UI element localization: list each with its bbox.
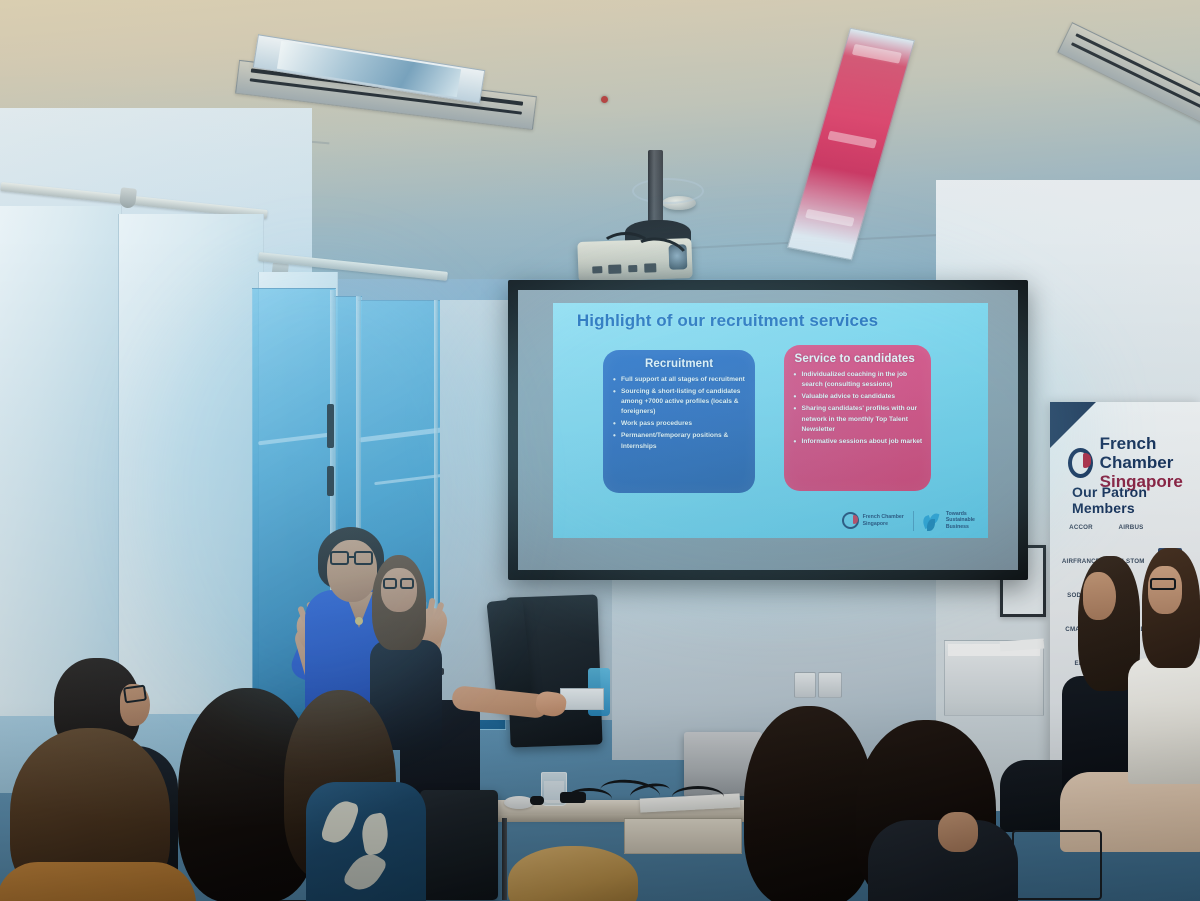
- logo-line: Sustainable: [946, 517, 975, 524]
- roller-blind: [0, 206, 122, 716]
- eyeglasses-bridge: [349, 556, 354, 558]
- desk-drawer[interactable]: [624, 818, 742, 854]
- chair-frame: [1012, 830, 1102, 900]
- cable: [672, 786, 724, 808]
- slide-bullet: Sourcing & short-listing of candidates a…: [612, 387, 746, 418]
- panelist-face: [1148, 566, 1182, 614]
- slide-bullet: Permanent/Temporary positions & Internsh…: [612, 431, 746, 452]
- logo-divider: [913, 511, 914, 531]
- french-chamber-icon: [842, 512, 859, 529]
- desk-leg: [502, 818, 507, 900]
- leaf-icon: [923, 512, 942, 529]
- french-chamber-logo: French Chamber Singapore: [842, 512, 904, 529]
- eyeglasses-icon: [354, 551, 373, 565]
- attendee-shoulders: [0, 862, 196, 901]
- photo-scene: Highlight of our recruitment services Re…: [0, 0, 1200, 901]
- attendee-hair: [744, 706, 874, 901]
- cable-adapter: [530, 796, 544, 805]
- presentation-slide: Highlight of our recruitment services Re…: [553, 303, 988, 538]
- sustainable-business-logo-text: Towards Sustainable Business: [946, 511, 975, 531]
- slide-box-heading: Recruitment: [612, 358, 746, 370]
- banner-subtitle: Our Patron Members: [1072, 484, 1200, 516]
- logo-line: Business: [946, 524, 975, 531]
- slide-box-candidates: Service to candidates Individualized coa…: [784, 345, 932, 491]
- eyeglasses-icon: [330, 551, 349, 565]
- french-chamber-logo-text: French Chamber Singapore: [863, 514, 904, 527]
- door-handle[interactable]: [327, 404, 334, 448]
- projection-screen: Highlight of our recruitment services Re…: [508, 280, 1028, 580]
- slide-bullet: Informative sessions about job market: [793, 437, 923, 447]
- roller-blind: [118, 214, 264, 714]
- banner-org-line1: French Chamber: [1100, 434, 1200, 472]
- attendee-face: [938, 812, 978, 852]
- light-switch[interactable]: [794, 672, 816, 698]
- logo-line: Towards: [946, 511, 975, 518]
- sustainable-business-logo: Towards Sustainable Business: [923, 511, 975, 531]
- panelist-torso: [1128, 658, 1200, 784]
- slide-bullet: Work pass procedures: [612, 419, 746, 429]
- slide-box-recruitment: Recruitment Full support at all stages o…: [603, 350, 755, 493]
- door-handle[interactable]: [327, 466, 334, 496]
- slide-bullet: Individualized coaching in the job searc…: [793, 370, 923, 391]
- screen-surface: Highlight of our recruitment services Re…: [518, 290, 1018, 570]
- attendee-hair: [508, 846, 638, 901]
- logo-line: French Chamber: [863, 514, 904, 521]
- eyeglasses-icon: [1150, 578, 1176, 590]
- eyeglasses-icon: [400, 578, 414, 589]
- speaker-face: [327, 540, 377, 602]
- french-chamber-icon: [1068, 448, 1093, 478]
- slide-bullet: Sharing candidates' profiles with our ne…: [793, 404, 923, 435]
- slide-bullet-list: Full support at all stages of recruitmen…: [612, 375, 746, 452]
- slide-bullet: Full support at all stages of recruitmen…: [612, 375, 746, 385]
- slide-box-heading: Service to candidates: [793, 353, 923, 365]
- sponsor-logo: AIRBUS: [1108, 514, 1154, 540]
- eyeglasses-icon: [123, 685, 147, 704]
- eyeglasses-icon: [383, 578, 397, 589]
- slide-bullet: Valuable advice to candidates: [793, 392, 923, 402]
- speaker-necklace: [355, 617, 363, 625]
- slide-bullet-list: Individualized coaching in the job searc…: [793, 370, 923, 447]
- sprinkler-indicator: [601, 96, 608, 103]
- sprinkler-ring: [632, 178, 704, 204]
- assistant-face: [381, 568, 417, 612]
- cable-adapter: [560, 792, 586, 803]
- logo-line: Singapore: [863, 521, 904, 528]
- banner-logo: French Chamber Singapore: [1068, 434, 1200, 491]
- slide-title: Highlight of our recruitment services: [577, 311, 878, 331]
- office-chair: [420, 790, 498, 900]
- banner-logo-text: French Chamber Singapore: [1100, 434, 1200, 491]
- slide-footer-logos: French Chamber Singapore Towards: [842, 511, 975, 531]
- desk-box: [560, 688, 604, 710]
- projector-mount-pole: [648, 150, 663, 226]
- light-switch[interactable]: [818, 672, 842, 698]
- sponsor-logo: ACCOR: [1058, 514, 1104, 540]
- panelist-face: [1083, 572, 1116, 620]
